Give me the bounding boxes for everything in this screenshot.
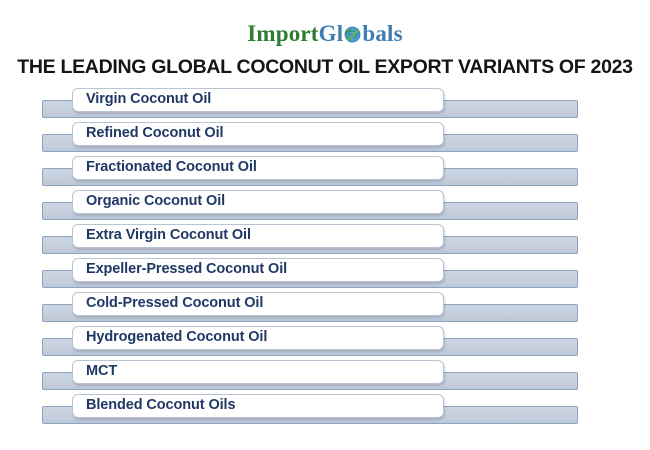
globe-icon xyxy=(343,25,362,44)
list-item[interactable]: Virgin Coconut Oil xyxy=(0,88,650,122)
list-item[interactable]: MCT xyxy=(0,360,650,394)
list-item[interactable]: Organic Coconut Oil xyxy=(0,190,650,224)
list-item-label: Extra Virgin Coconut Oil xyxy=(86,224,251,248)
list-item[interactable]: Extra Virgin Coconut Oil xyxy=(0,224,650,258)
list-item-label: MCT xyxy=(86,360,117,384)
list-item-label: Hydrogenated Coconut Oil xyxy=(86,326,267,350)
list-item-label: Virgin Coconut Oil xyxy=(86,88,211,112)
list-item-label: Expeller-Pressed Coconut Oil xyxy=(86,258,287,282)
variant-list: Virgin Coconut Oil Refined Coconut Oil F… xyxy=(0,88,650,428)
list-item-label: Fractionated Coconut Oil xyxy=(86,156,257,180)
list-item[interactable]: Refined Coconut Oil xyxy=(0,122,650,156)
brand-logo: ImportGl bals xyxy=(0,22,650,45)
brand-word-import: Import xyxy=(247,21,318,46)
list-item-label: Organic Coconut Oil xyxy=(86,190,225,214)
page-title: THE LEADING GLOBAL COCONUT OIL EXPORT VA… xyxy=(0,56,650,79)
brand-word-gl: Gl xyxy=(319,21,344,46)
list-item[interactable]: Fractionated Coconut Oil xyxy=(0,156,650,190)
list-item[interactable]: Expeller-Pressed Coconut Oil xyxy=(0,258,650,292)
infographic-page: ImportGl bals THE LEADING GLOBAL COCONUT… xyxy=(0,0,650,450)
list-item[interactable]: Hydrogenated Coconut Oil xyxy=(0,326,650,360)
list-item[interactable]: Cold-Pressed Coconut Oil xyxy=(0,292,650,326)
list-item-label: Refined Coconut Oil xyxy=(86,122,223,146)
list-item-pill xyxy=(72,360,444,384)
brand-word-bals: bals xyxy=(362,21,402,46)
list-item[interactable]: Blended Coconut Oils xyxy=(0,394,650,428)
list-item-label: Cold-Pressed Coconut Oil xyxy=(86,292,263,316)
list-item-label: Blended Coconut Oils xyxy=(86,394,235,418)
